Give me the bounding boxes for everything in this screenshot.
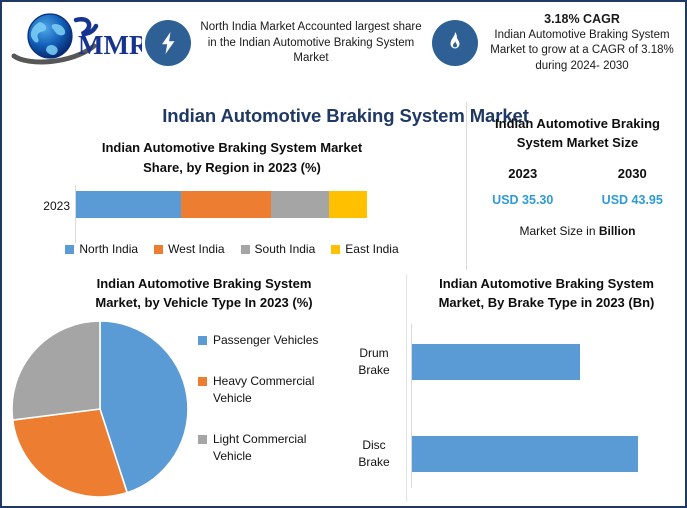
lightning-bolt-icon <box>145 20 191 66</box>
pie-slice-2 <box>12 321 100 420</box>
market-size-unit: Billion <box>599 224 636 238</box>
brake-row: DrumBrake <box>406 344 687 380</box>
vehicle-type-pie-chart: Indian Automotive Braking System Market,… <box>2 274 406 506</box>
legend-swatch-icon <box>198 435 207 444</box>
region-legend-label: East India <box>345 242 398 256</box>
region-legend-label: North India <box>79 242 138 256</box>
market-size-title: Indian Automotive Braking System Market … <box>468 114 687 152</box>
brake-title-line-2: Market, By Brake Type in 2023 (Bn) <box>412 293 681 312</box>
region-segment-3 <box>329 191 367 218</box>
pie-legend-label: Passenger Vehicles <box>213 332 318 349</box>
forecast-year-value: USD 43.95 <box>602 193 663 207</box>
region-legend-item: North India <box>65 242 138 256</box>
region-title-line-2: Share, by Region in 2023 (%) <box>2 158 462 178</box>
region-chart-title: Indian Automotive Braking System Market … <box>2 138 462 178</box>
header-north-india-callout: North India Market Accounted largest sha… <box>145 20 430 67</box>
region-legend: North IndiaWest IndiaSouth IndiaEast Ind… <box>2 242 462 256</box>
market-size-title-line-1: Indian Automotive Braking <box>470 114 685 133</box>
legend-swatch-icon <box>331 245 340 254</box>
market-size-panel: Indian Automotive Braking System Market … <box>468 114 687 264</box>
region-stacked-bar <box>76 191 367 218</box>
region-share-chart: Indian Automotive Braking System Market … <box>2 138 462 268</box>
legend-swatch-icon <box>65 245 74 254</box>
cagr-line-4: 2030 <box>603 60 629 72</box>
north-line-1: North India Market Accounted <box>200 21 352 33</box>
brake-bar <box>412 344 580 380</box>
infographic-canvas: MMR North India Market Accounted largest… <box>0 0 687 508</box>
brake-category-label: DrumBrake <box>344 344 404 379</box>
legend-swatch-icon <box>198 336 207 345</box>
region-legend-label: West India <box>168 242 224 256</box>
legend-swatch-icon <box>154 245 163 254</box>
region-legend-item: East India <box>331 242 398 256</box>
brake-chart-title: Indian Automotive Braking System Market,… <box>406 274 687 312</box>
brake-bar <box>412 436 638 472</box>
brake-category-label: DiscBrake <box>344 436 404 471</box>
header-cagr-text: 3.18% CAGR Indian Automotive Braking Sys… <box>487 12 677 74</box>
header-north-india-text: North India Market Accounted largest sha… <box>200 20 422 67</box>
region-segment-0 <box>76 191 181 218</box>
cagr-headline: 3.18% CAGR <box>487 12 677 28</box>
legend-swatch-icon <box>241 245 250 254</box>
svg-text:MMR: MMR <box>78 30 142 60</box>
region-title-line-1: Indian Automotive Braking System Market <box>2 138 462 158</box>
vertical-divider-top <box>466 102 467 270</box>
base-year-label: 2023 <box>508 166 537 181</box>
region-plot-area: 2023 <box>2 185 462 247</box>
header: MMR North India Market Accounted largest… <box>2 2 687 97</box>
pie-legend-label: Light CommercialVehicle <box>213 431 306 465</box>
pie-graphic <box>10 319 190 499</box>
region-category-label: 2023 <box>22 199 70 213</box>
cagr-line-1: Indian Automotive Braking <box>494 29 628 41</box>
market-size-unit-prefix: Market Size in <box>519 224 598 238</box>
region-segment-1 <box>181 191 271 218</box>
pie-legend-label: Heavy CommercialVehicle <box>213 373 314 407</box>
header-cagr-callout: 3.18% CAGR Indian Automotive Braking Sys… <box>432 12 684 74</box>
market-size-values: USD 35.30 USD 43.95 <box>468 193 687 207</box>
mmr-logo: MMR <box>10 10 142 68</box>
pie-chart-title: Indian Automotive Braking System Market,… <box>2 274 406 312</box>
market-size-title-line-2: System Market Size <box>470 133 685 152</box>
forecast-year-label: 2030 <box>618 166 647 181</box>
north-line-3: Automotive Braking System Market <box>273 37 414 65</box>
flame-icon <box>432 20 478 66</box>
region-legend-label: South India <box>255 242 316 256</box>
market-size-years: 2023 2030 <box>468 166 687 181</box>
brake-plot-area: DrumBrakeDiscBrake <box>406 324 687 494</box>
legend-swatch-icon <box>198 377 207 386</box>
region-legend-item: South India <box>241 242 316 256</box>
region-legend-item: West India <box>154 242 224 256</box>
brake-title-line-1: Indian Automotive Braking System <box>412 274 681 293</box>
region-segment-2 <box>271 191 329 218</box>
brake-type-bar-chart: Indian Automotive Braking System Market,… <box>406 274 687 506</box>
pie-title-line-2: Market, by Vehicle Type In 2023 (%) <box>20 293 388 312</box>
brake-row: DiscBrake <box>406 436 687 472</box>
market-size-unit-note: Market Size in Billion <box>468 224 687 238</box>
base-year-value: USD 35.30 <box>492 193 553 207</box>
pie-title-line-1: Indian Automotive Braking System <box>20 274 388 293</box>
